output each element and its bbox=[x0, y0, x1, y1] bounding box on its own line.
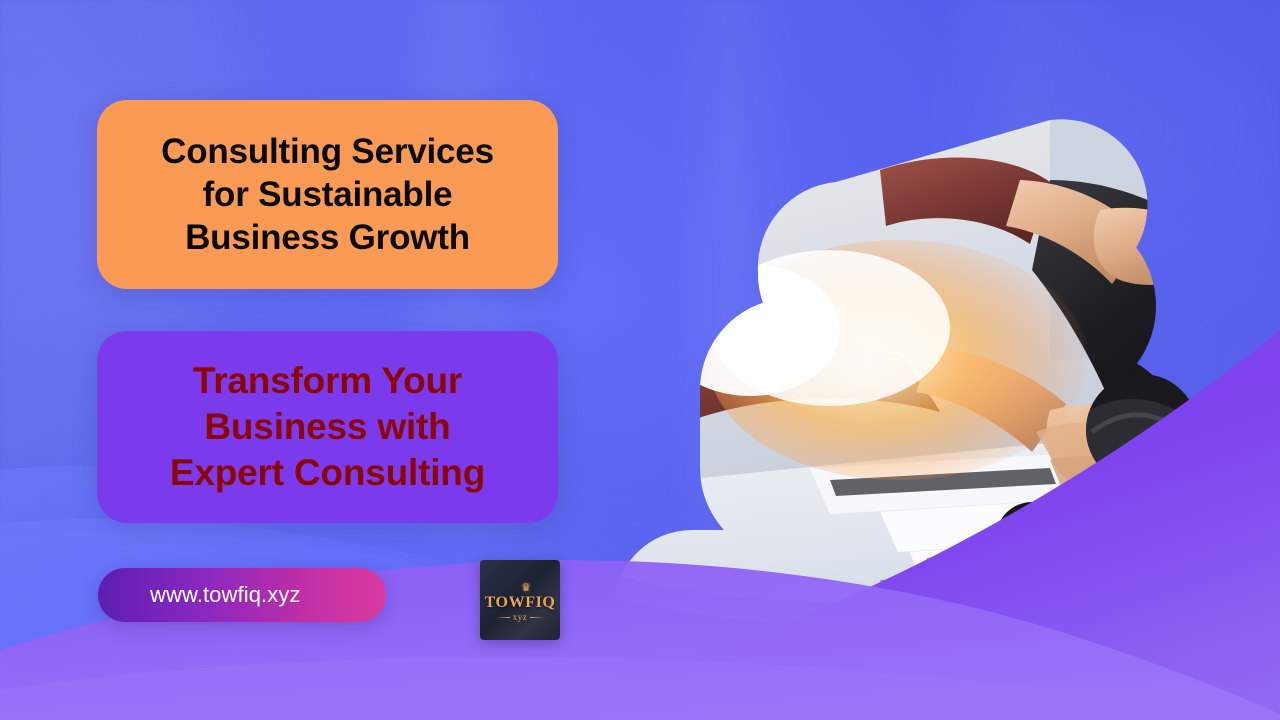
towfiq-logo-badge[interactable]: ♛ TOWFIQ xyz bbox=[480, 560, 560, 640]
headline-text: Consulting Services for Sustainable Busi… bbox=[141, 130, 514, 259]
subhead-card: Transform Your Business with Expert Cons… bbox=[97, 331, 558, 523]
crown-icon: ♛ bbox=[521, 583, 531, 594]
website-url-text: www.towfiq.xyz bbox=[98, 582, 301, 608]
logo-rule-right bbox=[530, 617, 544, 618]
logo-tld-row: xyz bbox=[496, 613, 545, 622]
subhead-text: Transform Your Business with Expert Cons… bbox=[156, 358, 499, 496]
headline-card: Consulting Services for Sustainable Busi… bbox=[97, 100, 558, 289]
logo-rule-left bbox=[496, 617, 510, 618]
promo-banner: Consulting Services for Sustainable Busi… bbox=[0, 0, 1280, 720]
website-url-pill[interactable]: www.towfiq.xyz bbox=[98, 568, 386, 622]
logo-tld-text: xyz bbox=[513, 613, 528, 622]
logo-wordmark: TOWFIQ bbox=[485, 595, 556, 611]
logo-inner: ♛ TOWFIQ xyz bbox=[480, 560, 560, 640]
